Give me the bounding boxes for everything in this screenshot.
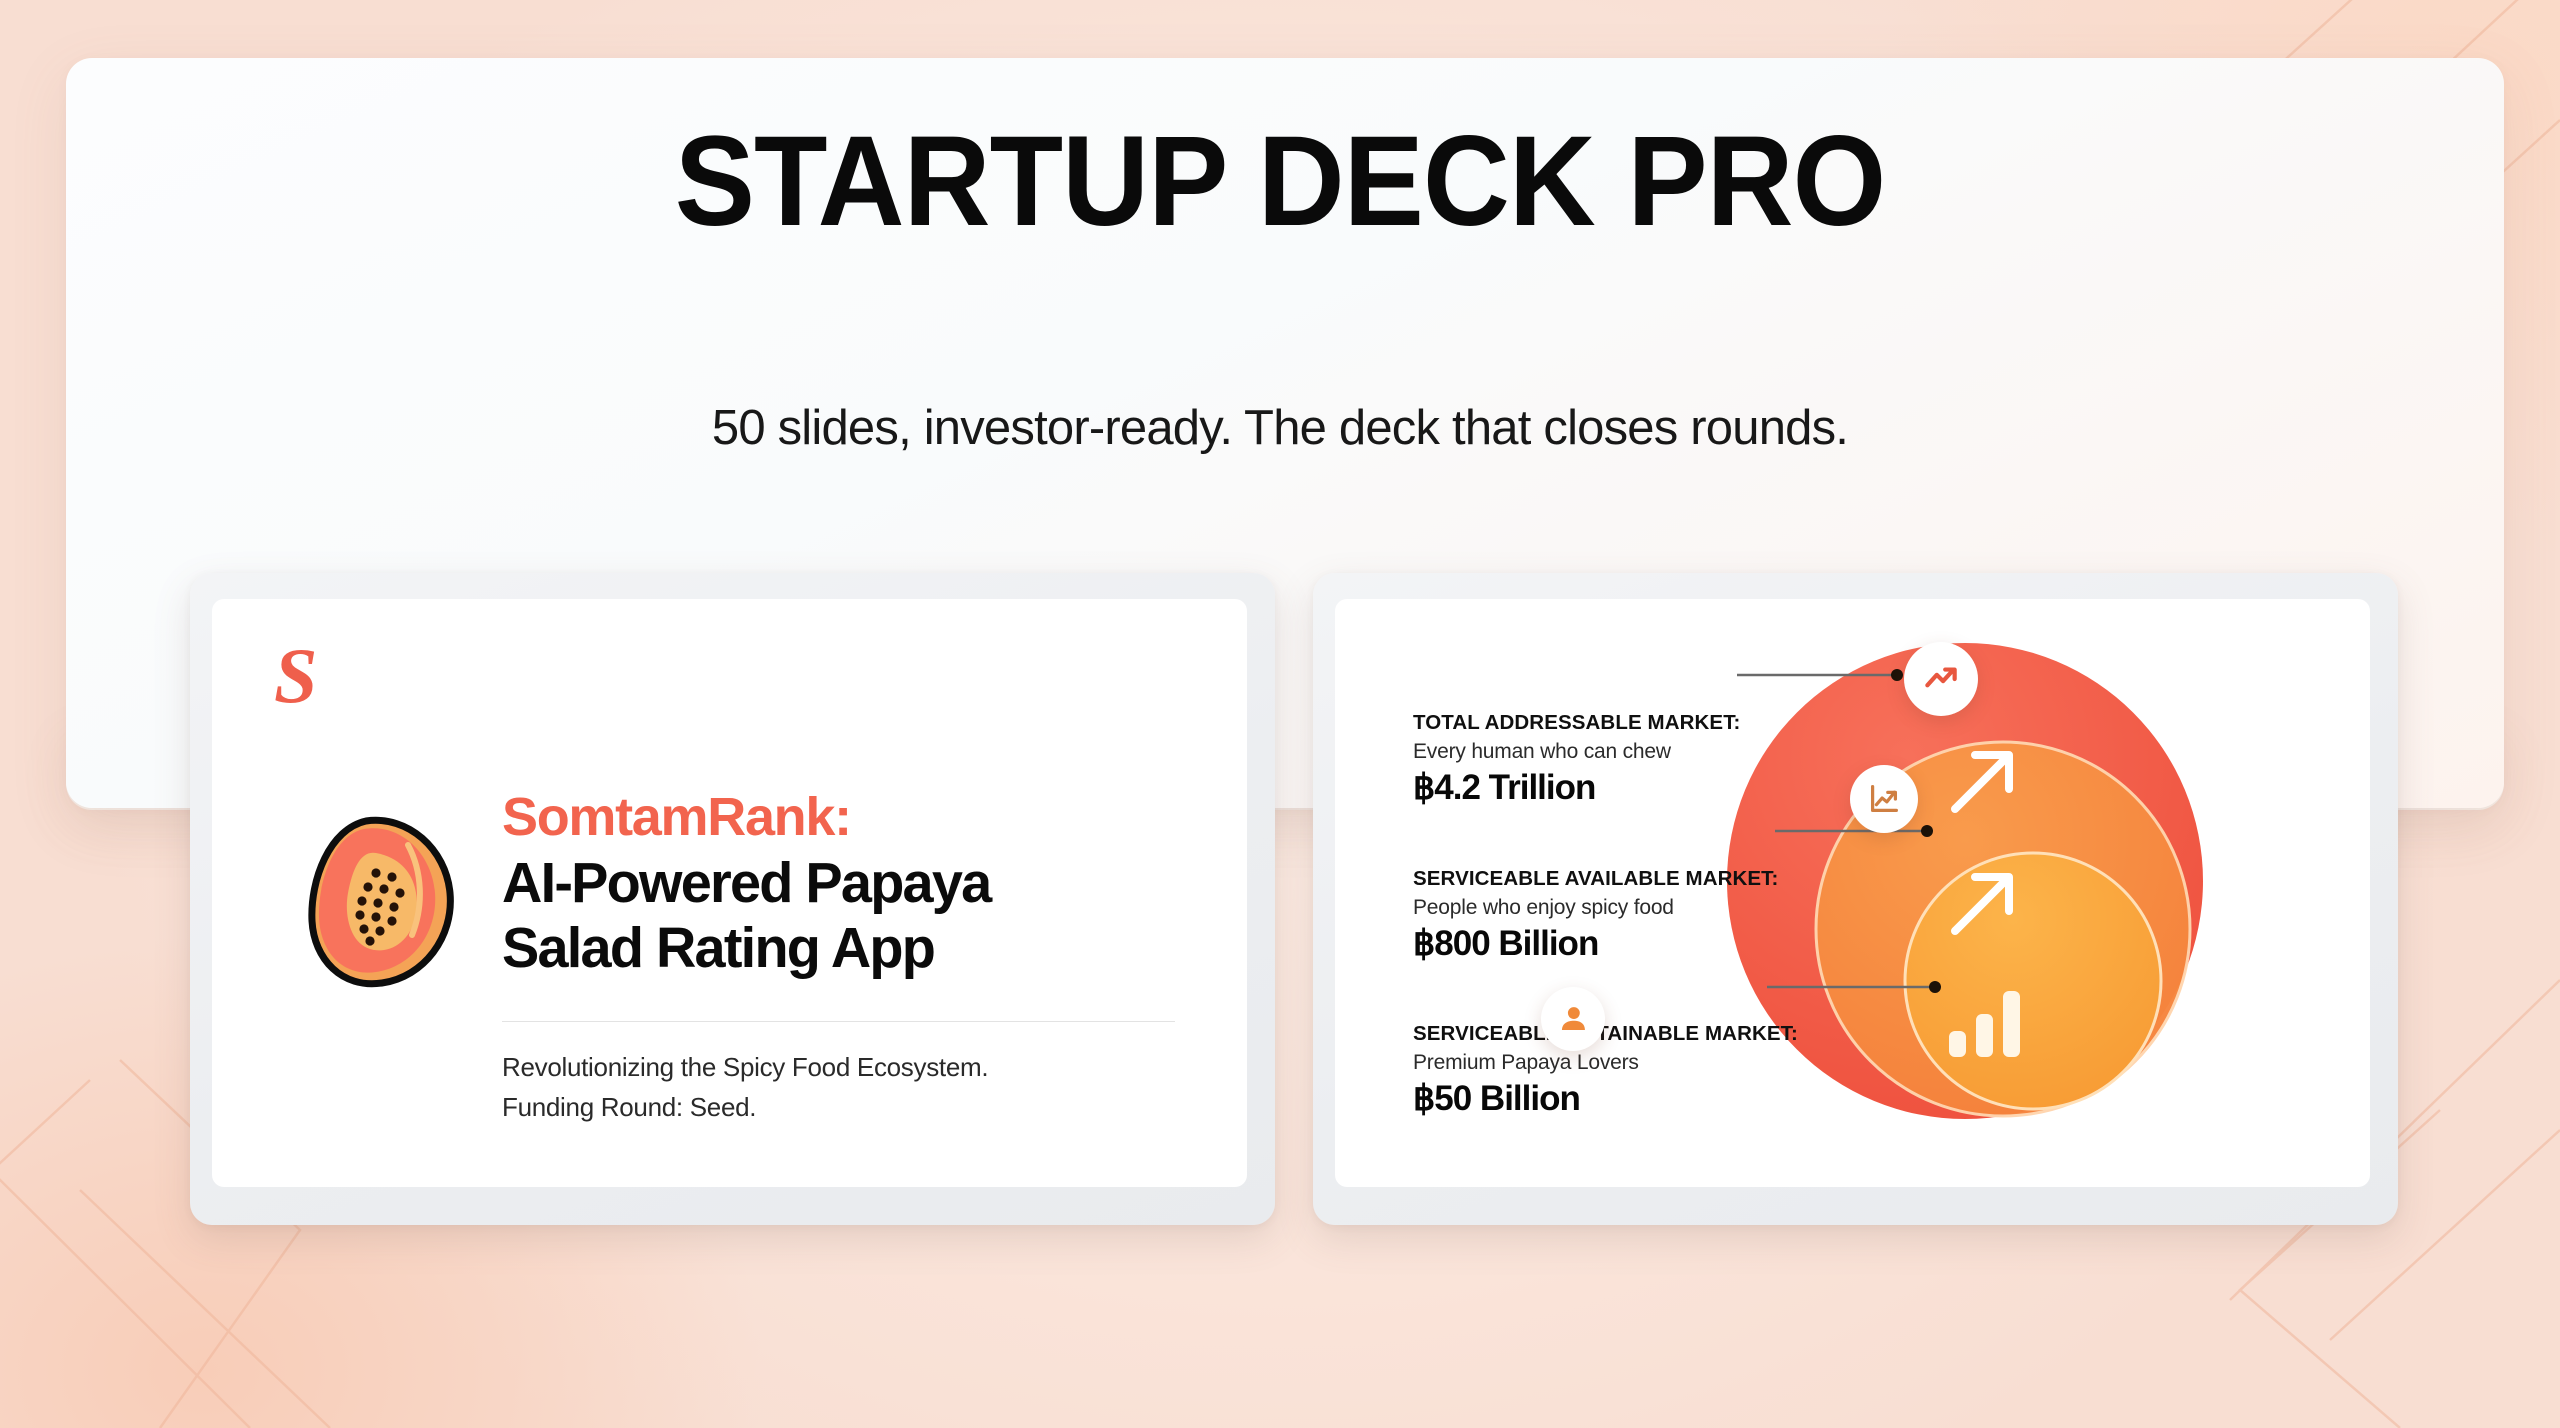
market-block-sam: SERVICEABLE AVAILABLE MARKET: People who… xyxy=(1413,867,1778,964)
slide-text-block: SomtamRank: AI-Powered Papaya Salad Rati… xyxy=(502,787,1175,1127)
trending-up-icon xyxy=(1920,658,1962,700)
slide-footnotes: Revolutionizing the Spicy Food Ecosystem… xyxy=(502,1048,1175,1127)
market-description: Every human who can chew xyxy=(1413,740,1740,764)
market-block-tam: TOTAL ADDRESSABLE MARKET: Every human wh… xyxy=(1413,711,1740,808)
page-subtitle: 50 slides, investor-ready. The deck that… xyxy=(0,400,2560,456)
som-circle xyxy=(1905,853,2161,1109)
market-value: ฿4.2 Trillion xyxy=(1413,768,1740,808)
line-chart-icon xyxy=(1865,780,1903,818)
badge-user xyxy=(1541,987,1605,1051)
slide-title-line-1: AI-Powered Papaya xyxy=(502,851,1162,916)
slide-card-title[interactable]: S SomtamRank: AI-Powered Papaya Salad Ra… xyxy=(190,573,1275,1225)
slide-title: AI-Powered Papaya Salad Rating App xyxy=(502,851,1162,981)
brand-logo: S xyxy=(274,637,315,715)
papaya-half-icon xyxy=(304,809,464,989)
page-title: STARTUP DECK PRO xyxy=(77,118,2483,246)
footnote-line-2: Funding Round: Seed. xyxy=(502,1088,1175,1128)
market-description: People who enjoy spicy food xyxy=(1413,896,1778,920)
market-description: Premium Papaya Lovers xyxy=(1413,1051,1798,1075)
divider xyxy=(502,1021,1175,1022)
market-label: TOTAL ADDRESSABLE MARKET: xyxy=(1413,711,1740,735)
market-label: SERVICEABLE OBTAINABLE MARKET: xyxy=(1413,1022,1798,1046)
market-label: SERVICEABLE AVAILABLE MARKET: xyxy=(1413,867,1778,891)
badge-line-chart xyxy=(1850,765,1918,833)
market-value: ฿50 Billion xyxy=(1413,1079,1798,1119)
slide-card-market[interactable]: TOTAL ADDRESSABLE MARKET: Every human wh… xyxy=(1313,573,2398,1225)
slide-title-line-2: Salad Rating App xyxy=(502,916,1162,981)
slide-card-market-surface: TOTAL ADDRESSABLE MARKET: Every human wh… xyxy=(1335,599,2370,1187)
market-value: ฿800 Billion xyxy=(1413,924,1778,964)
slide-card-title-surface: S SomtamRank: AI-Powered Papaya Salad Ra… xyxy=(212,599,1247,1187)
market-block-som: SERVICEABLE OBTAINABLE MARKET: Premium P… xyxy=(1413,1022,1798,1119)
badge-trending-up xyxy=(1904,642,1978,716)
slide-eyebrow: SomtamRank: xyxy=(502,787,1175,847)
user-icon xyxy=(1556,1002,1590,1036)
footnote-line-1: Revolutionizing the Spicy Food Ecosystem… xyxy=(502,1048,1175,1088)
